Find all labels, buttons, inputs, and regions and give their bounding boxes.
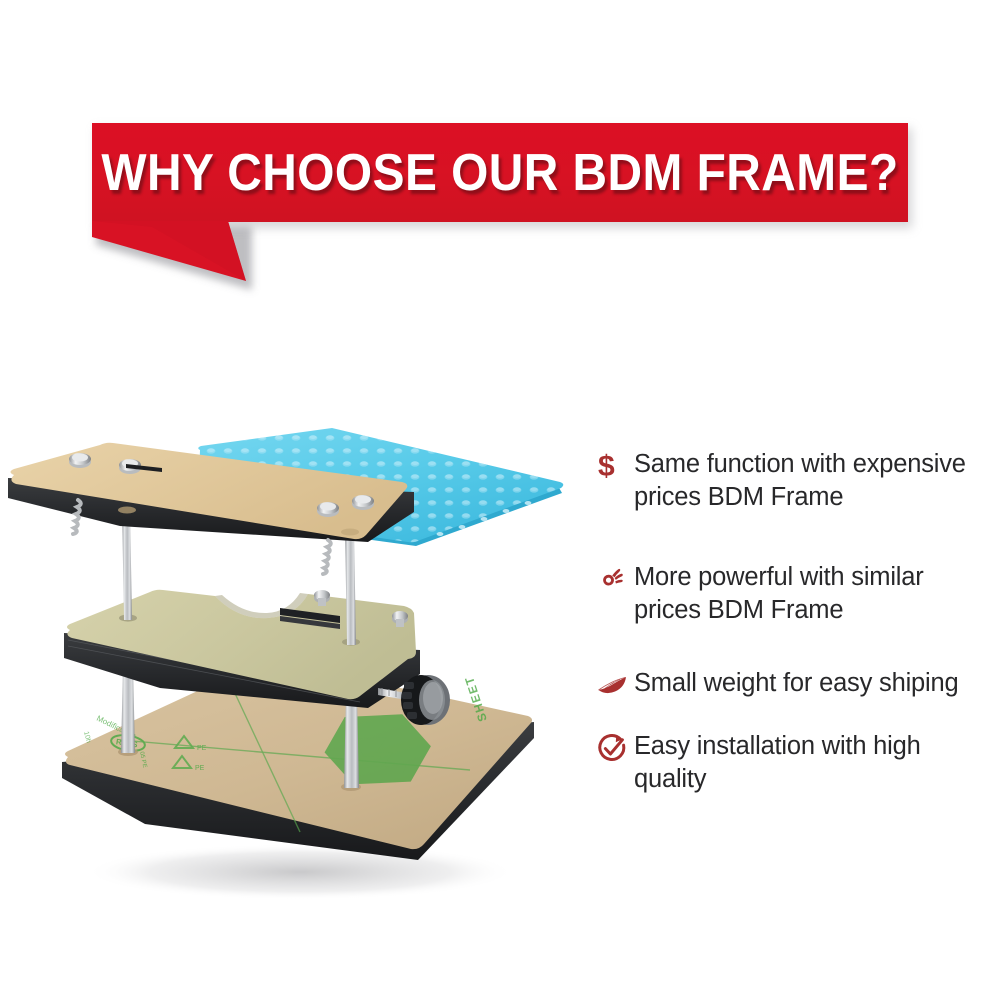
circled-check-icon	[596, 730, 634, 766]
dollar-sign-glyph: $	[598, 452, 615, 482]
feather-icon	[596, 667, 634, 703]
list-item: Easy installation with high quality	[596, 730, 996, 796]
headline-banner: WHY CHOOSE OUR BDM FRAME?	[92, 123, 908, 283]
product-photo: SHEET Modification 10h RoHS 05 PE	[0, 420, 580, 920]
feature-text: Same function with expensive prices BDM …	[634, 448, 996, 514]
feature-text: More powerful with similar prices BDM Fr…	[634, 561, 996, 627]
floor-shadow	[85, 844, 515, 900]
promo-page: WHY CHOOSE OUR BDM FRAME?	[0, 0, 1000, 1000]
middle-shelf	[64, 590, 420, 708]
ok-hand-icon	[596, 561, 634, 597]
list-item: Small weight for easy shiping	[596, 667, 996, 703]
banner-tail	[92, 221, 252, 283]
feature-text: Small weight for easy shiping	[634, 667, 958, 700]
page-title: WHY CHOOSE OUR BDM FRAME?	[125, 123, 876, 222]
feature-text: Easy installation with high quality	[634, 730, 996, 796]
bdm-frame-illustration: SHEET Modification 10h RoHS 05 PE	[0, 420, 580, 920]
list-item: $ Same function with expensive prices BD…	[596, 448, 996, 514]
svg-text:PE: PE	[197, 745, 207, 752]
svg-text:PE: PE	[195, 765, 205, 772]
svg-text:10h: 10h	[82, 731, 92, 744]
list-item: More powerful with similar prices BDM Fr…	[596, 561, 996, 627]
dollar-sign-icon: $	[596, 448, 634, 484]
